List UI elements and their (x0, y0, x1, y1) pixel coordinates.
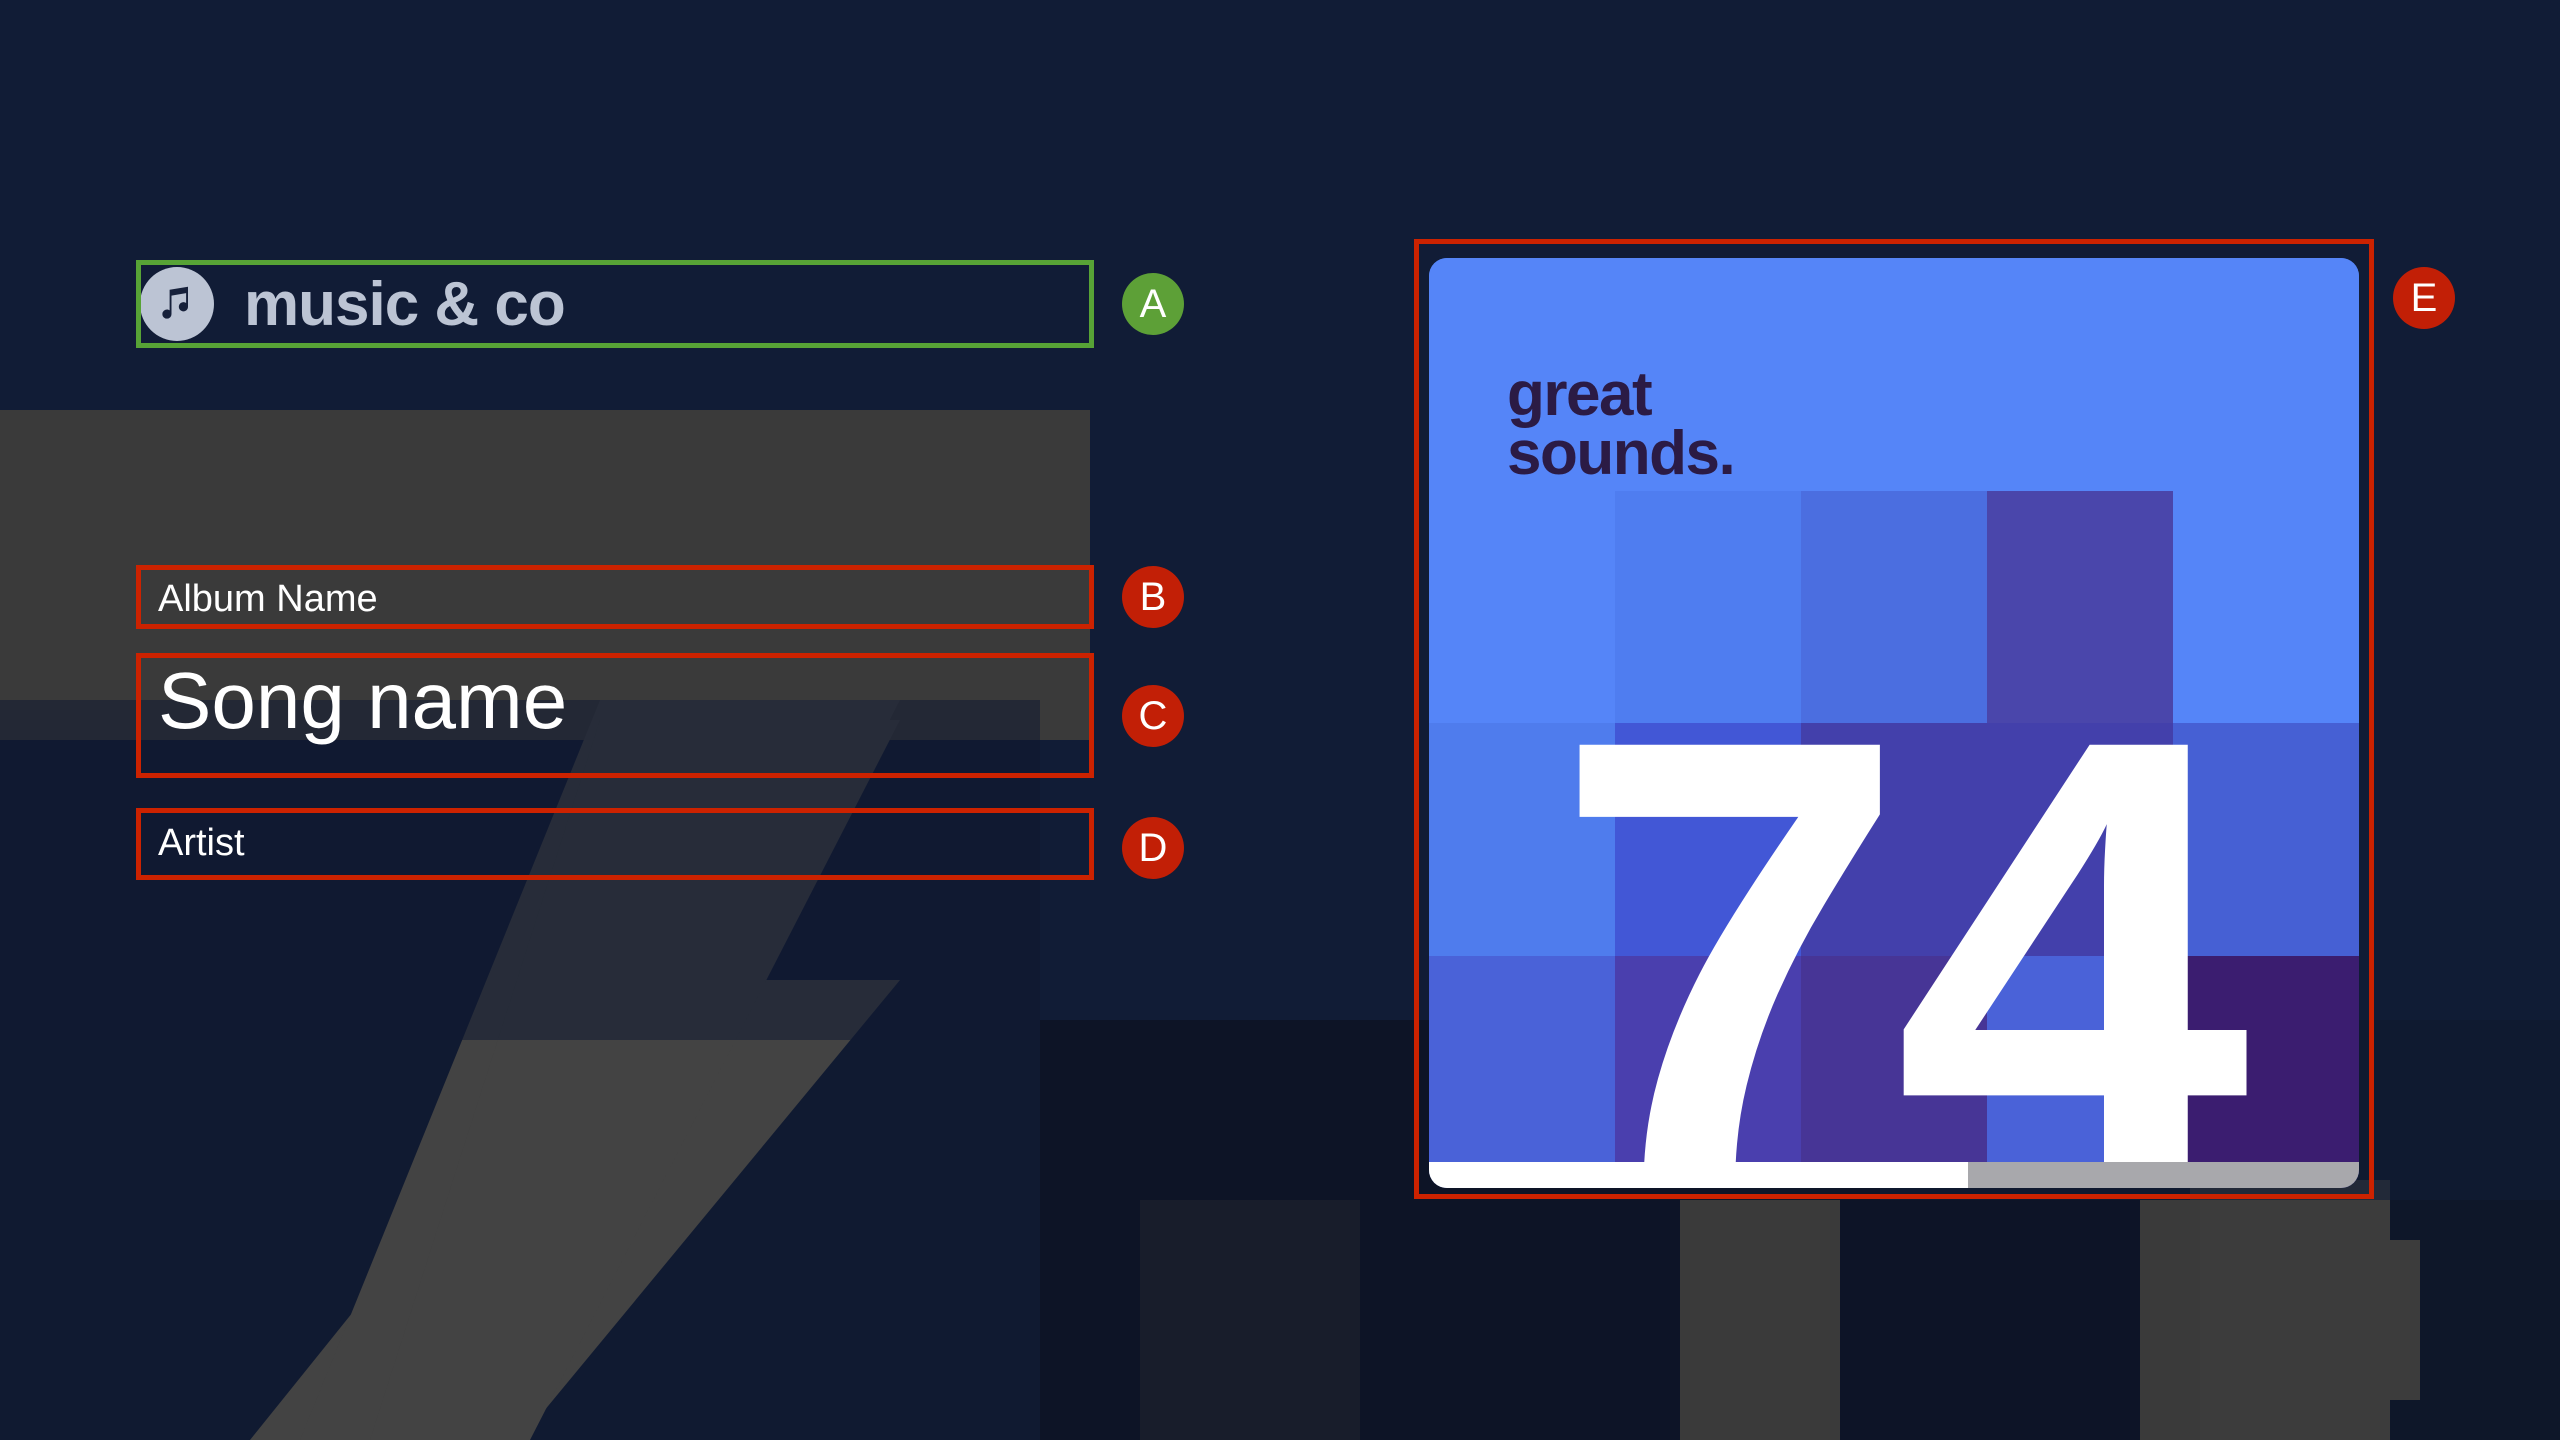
album-art-grid-cell (1801, 258, 1987, 491)
album-art-tagline: great sounds. (1507, 366, 1734, 484)
annotation-marker-a: A (1122, 273, 1184, 335)
playback-progress-fill (1429, 1162, 1968, 1188)
annotation-marker-b: B (1122, 566, 1184, 628)
annotation-marker-d: D (1122, 817, 1184, 879)
annotation-marker-e: E (2393, 267, 2455, 329)
brand-row[interactable]: music & co (140, 265, 1090, 343)
artist-text: Artist (158, 822, 245, 865)
annotation-marker-c: C (1122, 685, 1184, 747)
playback-progress-bar[interactable] (1429, 1162, 2359, 1188)
album-art-number: 74 (1429, 644, 2359, 1188)
album-name-text: Album Name (158, 578, 378, 621)
album-art-grid-cell (2173, 258, 2359, 491)
music-note-icon (140, 267, 214, 341)
song-name-text: Song name (158, 655, 567, 747)
album-art-grid-cell (1987, 258, 2173, 491)
album-art[interactable]: great sounds. 74 (1429, 258, 2359, 1188)
brand-name: music & co (244, 269, 565, 340)
